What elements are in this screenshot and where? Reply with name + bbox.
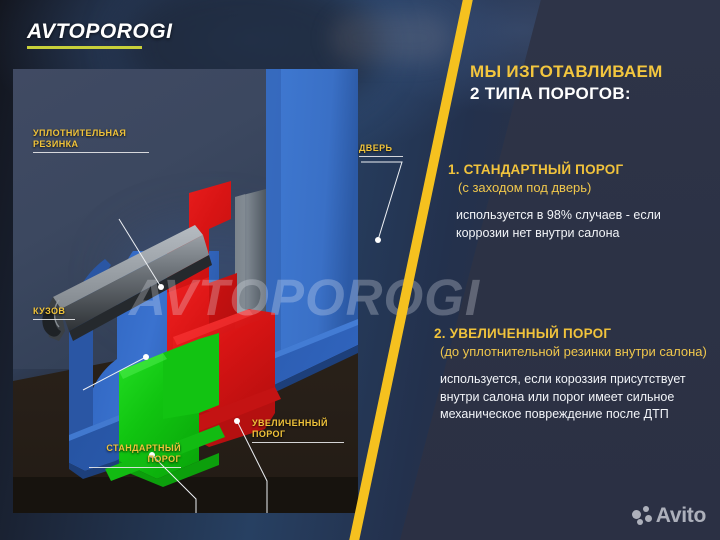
- section-enlarged-body: используется, если короззия присутствует…: [434, 371, 720, 424]
- section-standard-body: используется в 98% случаев - если корроз…: [448, 207, 716, 242]
- callout-label-standard-line1: СТАНДАРТНЫЙ: [106, 443, 181, 453]
- callout-underline: [33, 152, 149, 153]
- right-text-column: МЫ ИЗГОТАВЛИВАЕМ 2 ТИПА ПОРОГОВ: 1. СТАН…: [404, 0, 720, 540]
- callout-label-standard-line2: ПОРОГ: [148, 454, 181, 464]
- avito-watermark: Avito: [632, 505, 706, 526]
- main-heading: МЫ ИЗГОТАВЛИВАЕМ 2 ТИПА ПОРОГОВ:: [470, 62, 720, 104]
- infographic-canvas: AVTOPOROGI: [0, 0, 720, 540]
- callout-underline: [89, 467, 181, 468]
- callout-label-body-line1: КУЗОВ: [33, 306, 65, 316]
- callout-underline: [252, 442, 344, 443]
- section-standard: 1. СТАНДАРТНЫЙ ПОРОГ (с заходом под двер…: [448, 161, 716, 242]
- callout-label-enlarged: УВЕЛИЧЕННЫЙ ПОРОГ: [252, 418, 344, 443]
- section-standard-subtitle: (с заходом под дверь): [448, 179, 716, 196]
- callout-label-standard: СТАНДАРТНЫЙ ПОРОГ: [89, 443, 181, 468]
- callout-label-body: КУЗОВ: [33, 306, 75, 320]
- callout-label-enlarged-line1: УВЕЛИЧЕННЫЙ: [252, 418, 328, 428]
- avito-logo-icon: [632, 506, 652, 525]
- section-enlarged-title: 2. УВЕЛИЧЕННЫЙ ПОРОГ: [434, 325, 720, 342]
- brand-logo: AVTOPOROGI: [27, 21, 172, 49]
- section-enlarged: 2. УВЕЛИЧЕННЫЙ ПОРОГ (до уплотнительной …: [434, 325, 720, 424]
- section-enlarged-subtitle: (до уплотнительной резинки внутри салона…: [434, 343, 720, 360]
- callout-label-seal-line2: РЕЗИНКА: [33, 139, 78, 149]
- brand-logo-text: AVTOPOROGI: [27, 21, 172, 42]
- callout-label-seal-line1: УПЛОТНИТЕЛЬНАЯ: [33, 128, 126, 138]
- callout-label-enlarged-line2: ПОРОГ: [252, 429, 285, 439]
- main-heading-line1: МЫ ИЗГОТАВЛИВАЕМ: [470, 62, 720, 82]
- main-heading-line2: 2 ТИПА ПОРОГОВ:: [470, 84, 720, 104]
- brand-logo-underline: [27, 46, 142, 49]
- section-standard-title: 1. СТАНДАРТНЫЙ ПОРОГ: [448, 161, 716, 178]
- callout-underline: [33, 319, 75, 320]
- avito-logo-text: Avito: [656, 505, 706, 526]
- callout-label-seal: УПЛОТНИТЕЛЬНАЯ РЕЗИНКА: [33, 128, 149, 153]
